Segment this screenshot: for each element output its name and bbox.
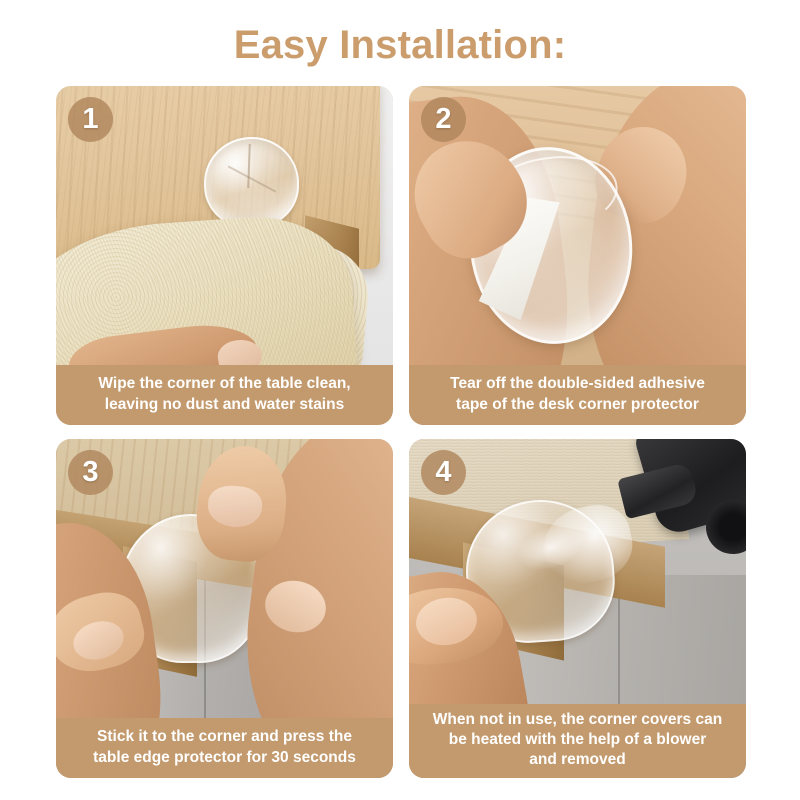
clear-corner-guard bbox=[204, 137, 298, 229]
step-card-1[interactable]: 1 Wipe the corner of the table clean, le… bbox=[56, 86, 393, 425]
step-caption-4: When not in use, the corner covers can b… bbox=[409, 704, 746, 778]
step-caption-3: Stick it to the corner and press the tab… bbox=[56, 718, 393, 778]
step-number-badge-3: 3 bbox=[68, 450, 113, 495]
step-number-badge-1: 1 bbox=[68, 97, 113, 142]
step-number-badge-2: 2 bbox=[421, 97, 466, 142]
step-card-2[interactable]: 2 Tear off the double-sided adhesive tap… bbox=[409, 86, 746, 425]
installation-infographic: Easy Installation: 1 Wipe the corner of … bbox=[0, 0, 800, 800]
step-caption-1: Wipe the corner of the table clean, leav… bbox=[56, 365, 393, 425]
steps-grid: 1 Wipe the corner of the table clean, le… bbox=[56, 86, 746, 778]
step-card-3[interactable]: 3 Stick it to the corner and press the t… bbox=[56, 439, 393, 778]
step-card-4[interactable]: 4 When not in use, the corner covers can… bbox=[409, 439, 746, 778]
page-title: Easy Installation: bbox=[0, 20, 800, 70]
step-caption-2: Tear off the double-sided adhesive tape … bbox=[409, 365, 746, 425]
step-number-badge-4: 4 bbox=[421, 450, 466, 495]
